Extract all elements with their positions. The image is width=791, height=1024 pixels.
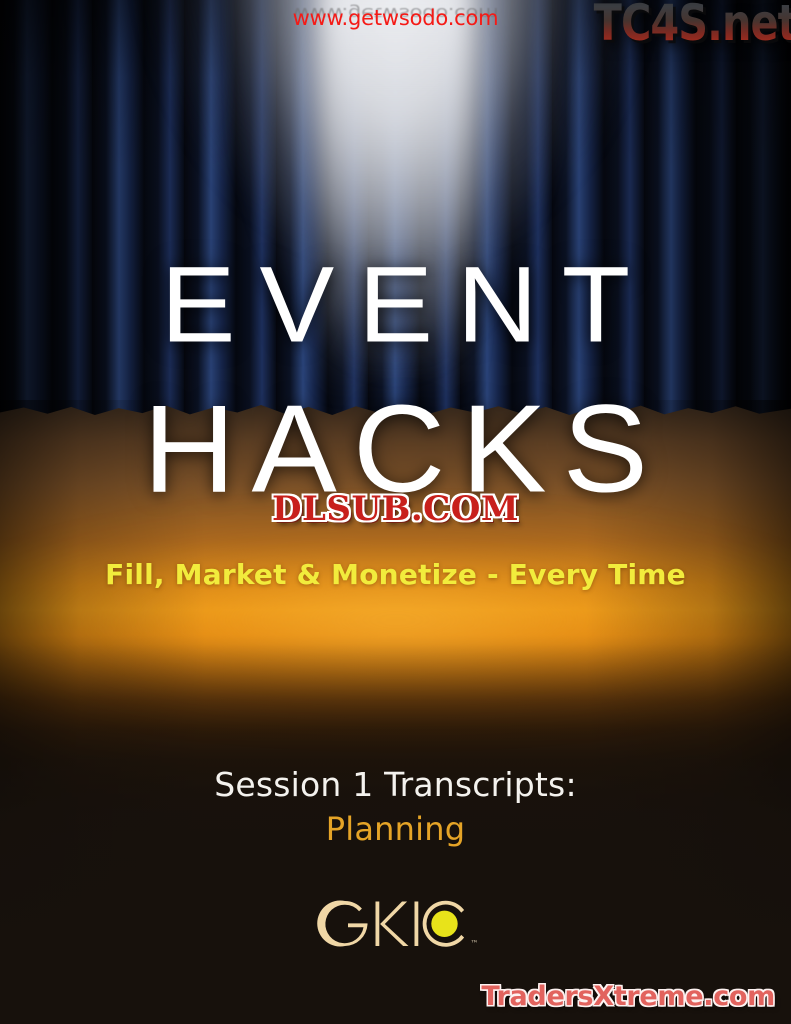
gkic-logo-mark: ™ xyxy=(313,893,478,955)
gkic-dot-icon xyxy=(431,911,457,937)
watermark-tradersxtreme: TradersXtreme.com xyxy=(481,981,775,1012)
event-hacks-cover: EVENT HACKS Fill, Market & Monetize - Ev… xyxy=(0,0,791,1024)
gkic-letter-i xyxy=(414,902,418,947)
spotlight-core xyxy=(321,0,471,400)
gkic-letter-k xyxy=(375,902,408,947)
gkic-logo: ™ xyxy=(313,893,478,955)
watermark-tc4s: TC4S.net xyxy=(594,0,791,52)
gkic-trademark: ™ xyxy=(470,939,478,948)
watermark-dlsub: DLSUB.COM xyxy=(272,489,519,529)
gkic-letter-g xyxy=(317,901,367,947)
